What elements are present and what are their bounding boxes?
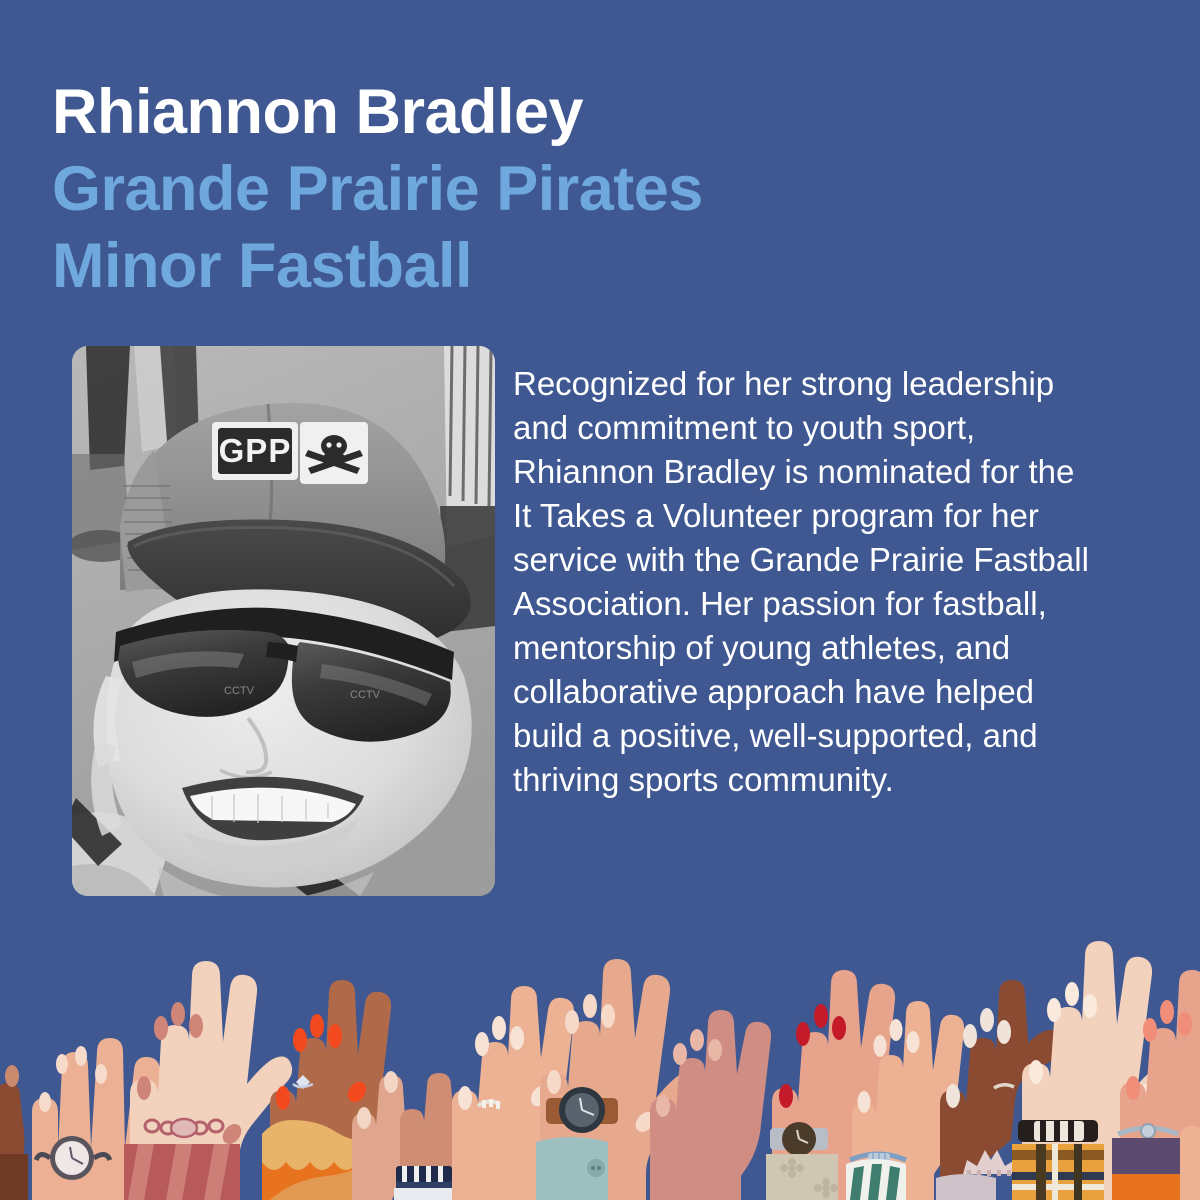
description-line: and commitment to youth sport, [513, 406, 1153, 450]
description-line: Rhiannon Bradley is nominated for the [513, 450, 1153, 494]
organization-line-2: Minor Fastball [52, 228, 1052, 305]
hands-artwork [0, 910, 1200, 1200]
svg-text:CCTV: CCTV [350, 689, 381, 701]
volunteer-description: Recognized for her strong leadership and… [513, 362, 1153, 802]
raised-hands-illustration [0, 910, 1200, 1200]
description-line: It Takes a Volunteer program for her [513, 494, 1153, 538]
organization-line-1: Grande Prairie Pirates [52, 151, 1052, 228]
description-line: Association. Her passion for fastball, [513, 582, 1153, 626]
volunteer-photo: GPP [72, 346, 495, 896]
description-line: service with the Grande Prairie Fastball [513, 538, 1153, 582]
hand-dark-left-edge [0, 1065, 28, 1200]
description-line: Recognized for her strong leadership [513, 362, 1153, 406]
poster-canvas: Rhiannon Bradley Grande Prairie Pirates … [0, 0, 1200, 1200]
headline-block: Rhiannon Bradley Grande Prairie Pirates … [52, 74, 1052, 305]
description-line: build a positive, well-supported, and [513, 714, 1153, 758]
photo-artwork: GPP [72, 346, 495, 896]
description-line: thriving sports community. [513, 758, 1153, 802]
description-line: collaborative approach have helped [513, 670, 1153, 714]
description-line: mentorship of young athletes, and [513, 626, 1153, 670]
hand-navy-sleeve-striped-band [394, 1073, 456, 1200]
volunteer-name: Rhiannon Bradley [52, 74, 1052, 151]
cap-patch-text: GPP [219, 432, 292, 469]
svg-text:CCTV: CCTV [224, 685, 255, 697]
